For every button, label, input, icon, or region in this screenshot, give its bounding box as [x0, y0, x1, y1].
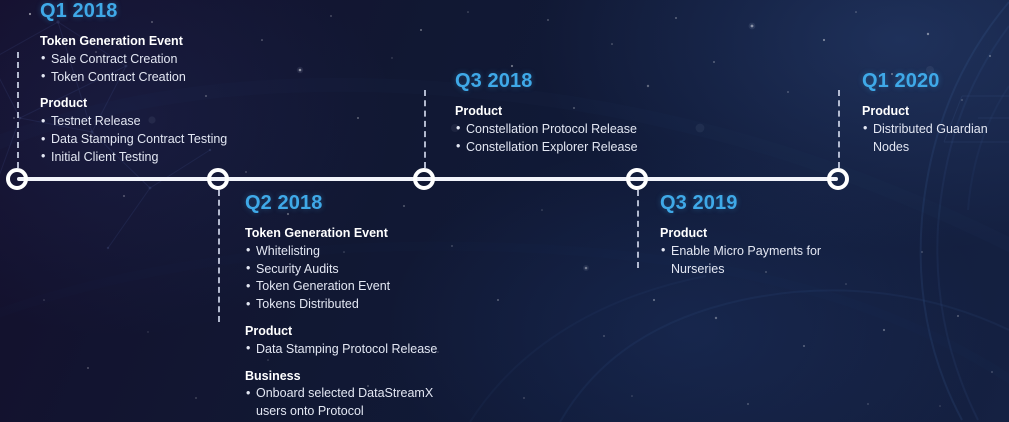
group-bullet-list: Sale Contract Creation Token Contract Cr…: [40, 51, 340, 87]
connector-q1-2020: [838, 90, 840, 168]
bullet-item: Initial Client Testing: [40, 149, 340, 167]
group-bullet-list: Enable Micro Payments for Nurseries: [660, 243, 860, 279]
timeline-entry-q1-2018: Q1 2018 Token Generation Event Sale Cont…: [40, 0, 340, 167]
bullet-item: Enable Micro Payments for Nurseries: [660, 243, 860, 279]
entry-heading-q3-2018: Q3 2018: [455, 70, 715, 93]
entry-group: Business Onboard selected DataStreamX us…: [245, 368, 545, 421]
entry-group: Product Constellation Protocol Release C…: [455, 103, 715, 156]
entry-group: Token Generation Event Sale Contract Cre…: [40, 33, 340, 86]
bullet-item: Constellation Explorer Release: [455, 139, 715, 157]
entry-group: Token Generation Event Whitelisting Secu…: [245, 225, 545, 314]
bullet-item: Security Audits: [245, 261, 545, 279]
group-bullet-list: Constellation Protocol Release Constella…: [455, 121, 715, 157]
group-label: Product: [862, 103, 1009, 120]
bullet-item: Testnet Release: [40, 113, 340, 131]
entry-heading-q2-2018: Q2 2018: [245, 192, 545, 215]
bullet-item: Token Contract Creation: [40, 69, 340, 87]
timeline-node-q2-2018[interactable]: [207, 168, 229, 190]
timeline-node-q3-2019[interactable]: [626, 168, 648, 190]
group-bullet-list: Distributed Guardian Nodes: [862, 121, 1009, 157]
group-bullet-list: Testnet Release Data Stamping Contract T…: [40, 113, 340, 166]
bullet-item: Data Stamping Contract Testing: [40, 131, 340, 149]
bullet-item: Tokens Distributed: [245, 296, 545, 314]
entry-group: Product Testnet Release Data Stamping Co…: [40, 95, 340, 166]
bullet-item: Sale Contract Creation: [40, 51, 340, 69]
group-label: Product: [245, 323, 545, 340]
group-bullet-list: Data Stamping Protocol Release: [245, 341, 545, 359]
entry-heading-q3-2019: Q3 2019: [660, 192, 860, 215]
entry-heading-q1-2020: Q1 2020: [862, 70, 1009, 93]
bullet-item: Distributed Guardian Nodes: [862, 121, 1009, 157]
group-label: Business: [245, 368, 545, 385]
group-label: Product: [660, 225, 860, 242]
roadmap-timeline: Q1 2018 Token Generation Event Sale Cont…: [0, 0, 1009, 422]
entry-group: Product Enable Micro Payments for Nurser…: [660, 225, 860, 278]
timeline-entry-q2-2018: Q2 2018 Token Generation Event Whitelist…: [245, 192, 545, 421]
group-label: Token Generation Event: [245, 225, 545, 242]
group-label: Product: [455, 103, 715, 120]
timeline-entry-q3-2019: Q3 2019 Product Enable Micro Payments fo…: [660, 192, 860, 278]
connector-q2-2018: [218, 190, 220, 322]
timeline-node-q1-2018[interactable]: [6, 168, 28, 190]
connector-q1-2018: [17, 52, 19, 168]
connector-q3-2019: [637, 190, 639, 268]
timeline-node-q1-2020[interactable]: [827, 168, 849, 190]
entry-heading-q1-2018: Q1 2018: [40, 0, 340, 23]
bullet-item: Onboard selected DataStreamX users onto …: [245, 385, 545, 421]
entry-group: Product Distributed Guardian Nodes: [862, 103, 1009, 156]
entry-group: Product Data Stamping Protocol Release: [245, 323, 545, 359]
group-label: Token Generation Event: [40, 33, 340, 50]
bullet-item: Token Generation Event: [245, 278, 545, 296]
bullet-item: Data Stamping Protocol Release: [245, 341, 545, 359]
group-bullet-list: Onboard selected DataStreamX users onto …: [245, 385, 545, 421]
group-label: Product: [40, 95, 340, 112]
bullet-item: Constellation Protocol Release: [455, 121, 715, 139]
bullet-item: Whitelisting: [245, 243, 545, 261]
group-bullet-list: Whitelisting Security Audits Token Gener…: [245, 243, 545, 314]
timeline-node-q3-2018[interactable]: [413, 168, 435, 190]
timeline-entry-q3-2018: Q3 2018 Product Constellation Protocol R…: [455, 70, 715, 156]
timeline-entry-q1-2020: Q1 2020 Product Distributed Guardian Nod…: [862, 70, 1009, 156]
connector-q3-2018: [424, 90, 426, 168]
